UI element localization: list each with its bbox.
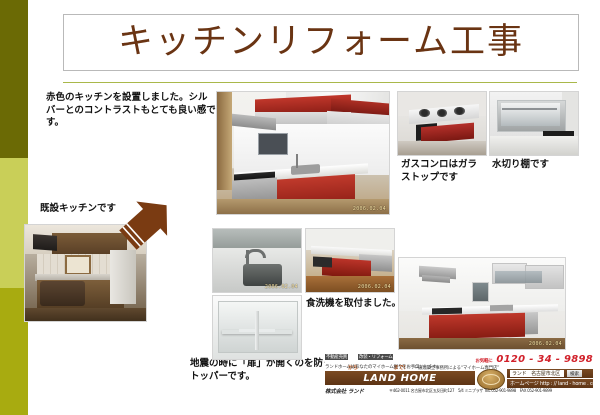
footer-website-url[interactable]: ホームページ http : // land - home . cc xyxy=(510,380,595,387)
note-intro: 赤色のキッチンを設置しました。シルバーとのコントラストもとても良い感です。 xyxy=(46,92,216,130)
sidebar-gutter xyxy=(28,0,33,415)
sidebar-decoration xyxy=(0,0,28,415)
photo-timestamp: 2006.02.04 xyxy=(529,341,562,347)
title-underline-rule xyxy=(63,82,577,83)
note-gas-stove: ガスコンロはガラストップです xyxy=(401,159,481,184)
photo-drain-shelf xyxy=(489,91,579,156)
search-input[interactable]: ランド 名古屋市北区 xyxy=(510,370,564,377)
page-title: キッチンリフォーム工事 xyxy=(118,25,524,60)
company-seal-icon xyxy=(477,369,505,390)
photo-door-stopper xyxy=(212,295,302,360)
footer-url-bar[interactable]: ホームページ http : // land - home . cc xyxy=(507,379,593,388)
footer-tel-number: 0120 - 34 - 9898 xyxy=(496,354,593,365)
photo-sink-faucet: 2006.02.04 xyxy=(212,228,302,293)
footer-brand-bar: LAND HOME xyxy=(325,371,475,385)
footer-company-address: 〒462-0011 名古屋市北区五反田町127 5/4 ミニプラザ TEL 05… xyxy=(389,388,552,394)
footer-company-name: 株式会社 ランド xyxy=(325,387,364,395)
footer-subcopy: ランドホームはあなたのマイホーム創りをお手伝いします xyxy=(325,364,437,370)
photo-kitchen-install: 2006.02.04 xyxy=(305,228,395,293)
transformation-arrow-icon xyxy=(113,193,183,251)
footer-telephone: お気軽に 0120 - 34 - 9898 xyxy=(475,354,593,365)
footer-tag-reform: 改装・リフォーム xyxy=(358,354,393,360)
photo-timestamp: 2006.02.04 xyxy=(358,284,391,290)
footer-search-bar[interactable]: ランド 名古屋市北区 検索 xyxy=(507,369,593,378)
footer-tag-realestate: 不動産売買 xyxy=(325,354,348,360)
slide-canvas: キッチンリフォーム工事 赤色のキッチンを設置しました。シルバーとのコントラストも… xyxy=(0,0,600,415)
sidebar-band-top xyxy=(0,0,28,158)
search-button[interactable]: 検索 xyxy=(567,370,582,377)
photo-timestamp: 2006.02.04 xyxy=(265,284,298,290)
note-drain-shelf: 水切り棚です xyxy=(492,159,572,172)
slide-title-box: キッチンリフォーム工事 xyxy=(63,14,579,71)
photo-new-red-kitchen: 2006.02.04 xyxy=(216,91,390,215)
footer-brand-name: LAND HOME xyxy=(363,373,436,384)
footer-tel-label: お気軽に xyxy=(475,359,492,364)
photo-finished-kitchen: 2006.02.04 xyxy=(398,257,566,350)
photo-gas-cooktop xyxy=(397,91,487,156)
footer-advertisement: 不動産売買から改装・リフォームまで！ 一級建築士事務所による“マイホーム専門店”… xyxy=(325,354,593,402)
photo-timestamp: 2006.02.04 xyxy=(353,206,386,212)
